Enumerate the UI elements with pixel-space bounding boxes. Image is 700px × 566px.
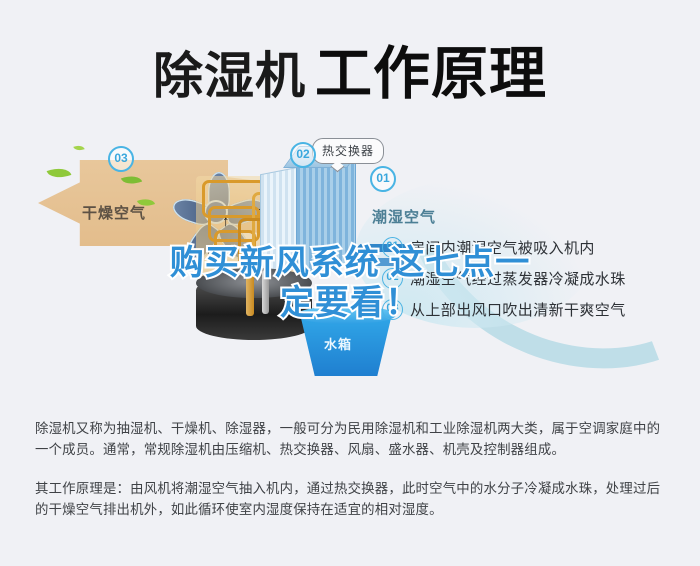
page-title-part1: 除湿机 (153, 48, 306, 104)
legend-number: 02 (382, 268, 403, 289)
water-tank-lip-icon (296, 306, 396, 324)
compressor-top-icon (196, 268, 312, 298)
body-paragraph-2: 其工作原理是：由风机将潮湿空气抽入机内，通过热交换器，此时空气中的水分子冷凝成水… (35, 478, 671, 520)
dry-air-label: 干燥空气 (82, 202, 146, 223)
infographic-page: 除湿机工作原理 干燥空气 ↑ → ↓ ↑ (0, 0, 700, 566)
copper-pipe-icon (246, 258, 254, 316)
article-body: 除湿机又称为抽湿机、干燥机、除湿器，一般可分为民用除湿机和工业除湿机两大类，属于… (35, 418, 671, 520)
page-title: 除湿机工作原理 (0, 28, 700, 110)
diagram-badge-01: 01 (370, 166, 396, 192)
flow-arrow-up-icon: ↑ (205, 244, 213, 259)
list-item: 02 潮湿空气经过蒸发器冷凝成水珠 (382, 263, 682, 294)
diagram-badge-03: 03 (108, 146, 134, 172)
legend-label: 从上部出风口吹出清新干爽空气 (410, 299, 626, 320)
diagram-badge-02: 02 (290, 142, 316, 168)
legend-label: 潮湿空气经过蒸发器冷凝成水珠 (410, 268, 626, 289)
list-item: 03 从上部出风口吹出清新干爽空气 (382, 294, 682, 325)
legend-list: 01 房间内潮湿空气被吸入机内 02 潮湿空气经过蒸发器冷凝成水珠 03 从上部… (382, 232, 682, 325)
flow-arrow-up-icon: ↑ (222, 214, 230, 229)
heat-exchanger-callout: 热交换器 (312, 138, 384, 164)
legend-number: 03 (382, 299, 403, 320)
page-title-part2: 工作原理 (315, 42, 547, 106)
leaf-icon (47, 164, 72, 183)
humid-air-label: 潮湿空气 (372, 206, 436, 227)
legend-number: 01 (382, 237, 403, 258)
leaf-icon (73, 143, 84, 152)
body-paragraph-1: 除湿机又称为抽湿机、干燥机、除湿器，一般可分为民用除湿机和工业除湿机两大类，属于… (35, 418, 671, 460)
list-item: 01 房间内潮湿空气被吸入机内 (382, 232, 682, 263)
heat-exchanger-icon (296, 154, 356, 276)
metal-pipe-icon (262, 270, 269, 314)
water-tank-label: 水箱 (324, 334, 352, 353)
legend-label: 房间内潮湿空气被吸入机内 (410, 237, 595, 258)
